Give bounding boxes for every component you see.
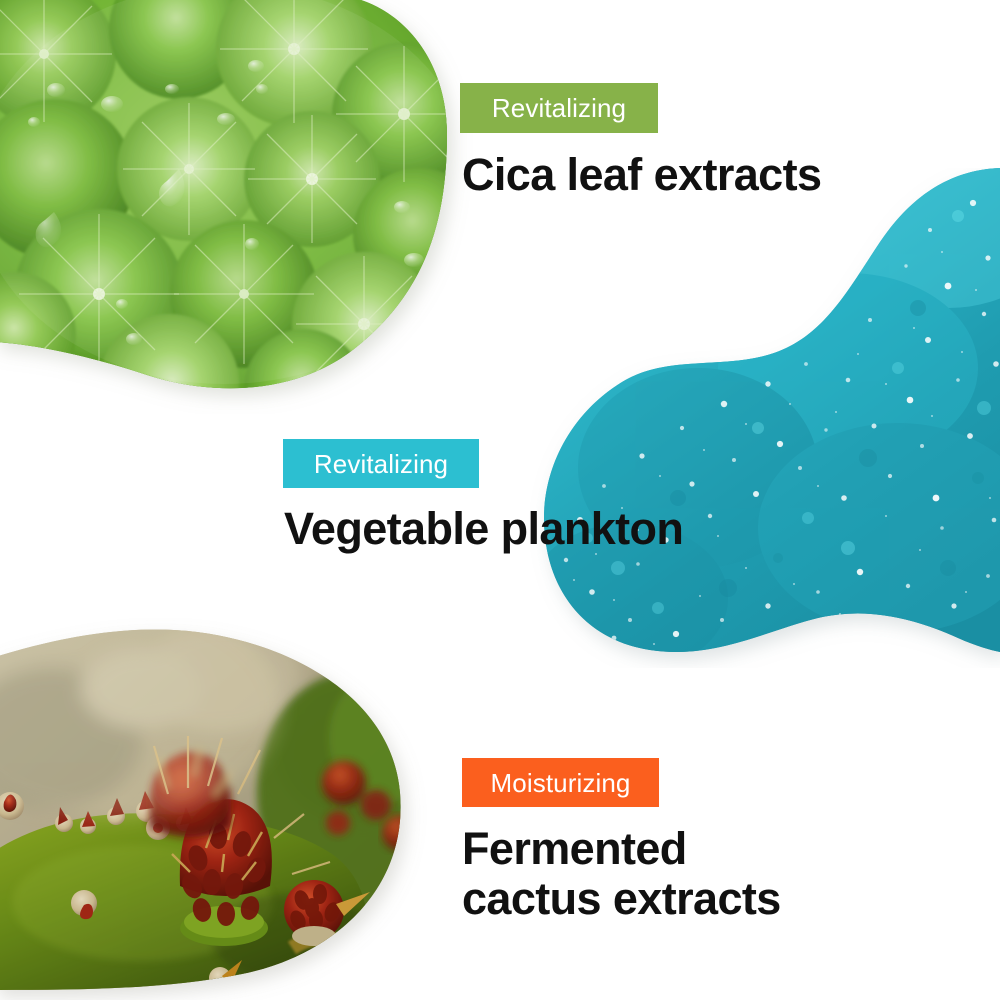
- headline-fermented-cactus-extracts: Fermented cactus extracts: [462, 824, 781, 925]
- vegetable-plankton-photo: [518, 168, 1000, 668]
- badge-revitalizing-cica[interactable]: Revitalizing: [460, 83, 658, 133]
- poster-canvas: Revitalizing Revitalizing Moisturizing C…: [0, 0, 1000, 1000]
- headline-vegetable-plankton: Vegetable plankton: [284, 504, 683, 554]
- cica-leaves-photo: [0, 0, 474, 414]
- headline-cica-leaf-extracts: Cica leaf extracts: [462, 150, 821, 200]
- badge-revitalizing-plankton[interactable]: Revitalizing: [283, 439, 479, 488]
- badge-moisturizing-cactus[interactable]: Moisturizing: [462, 758, 659, 807]
- fermented-cactus-photo: [0, 618, 432, 1000]
